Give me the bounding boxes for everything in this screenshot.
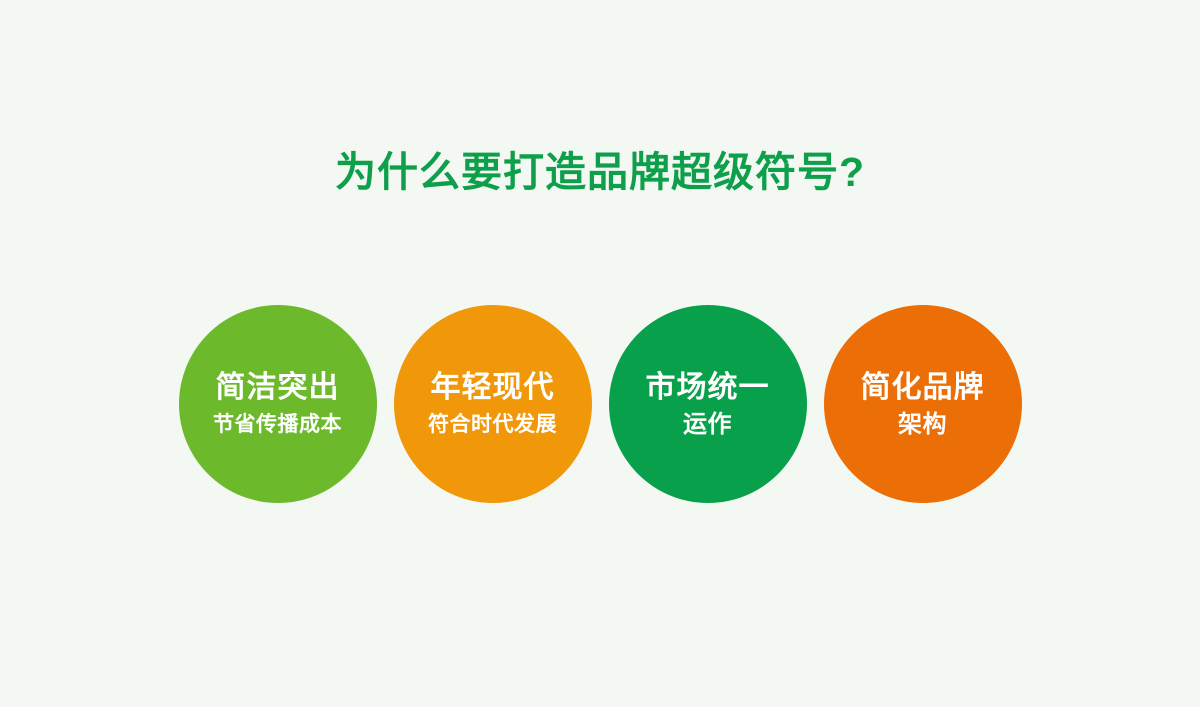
benefit-circle-4-sub-label: 架构: [898, 410, 947, 440]
benefit-circle-3[interactable]: 市场统一 运作: [609, 305, 807, 503]
benefit-circle-1-main-label: 简洁突出: [216, 369, 340, 407]
benefit-circle-4[interactable]: 简化品牌 架构: [824, 305, 1022, 503]
benefit-circle-1[interactable]: 简洁突出 节省传播成本: [179, 305, 377, 503]
benefit-circle-3-main-label: 市场统一: [646, 369, 770, 407]
benefit-circle-2-sub-label: 符合时代发展: [428, 410, 557, 440]
benefit-circle-2-main-label: 年轻现代: [431, 369, 555, 407]
page-title: 为什么要打造品牌超级符号?: [0, 146, 1200, 198]
benefit-circle-2[interactable]: 年轻现代 符合时代发展: [394, 305, 592, 503]
benefit-circle-1-sub-label: 节省传播成本: [213, 410, 342, 440]
slide-canvas: 为什么要打造品牌超级符号? 简洁突出 节省传播成本 年轻现代 符合时代发展 市场…: [0, 0, 1200, 707]
benefit-circle-3-sub-label: 运作: [683, 410, 732, 440]
benefit-circle-4-main-label: 简化品牌: [861, 369, 985, 407]
benefit-circle-row: 简洁突出 节省传播成本 年轻现代 符合时代发展 市场统一 运作 简化品牌 架构: [0, 305, 1200, 505]
